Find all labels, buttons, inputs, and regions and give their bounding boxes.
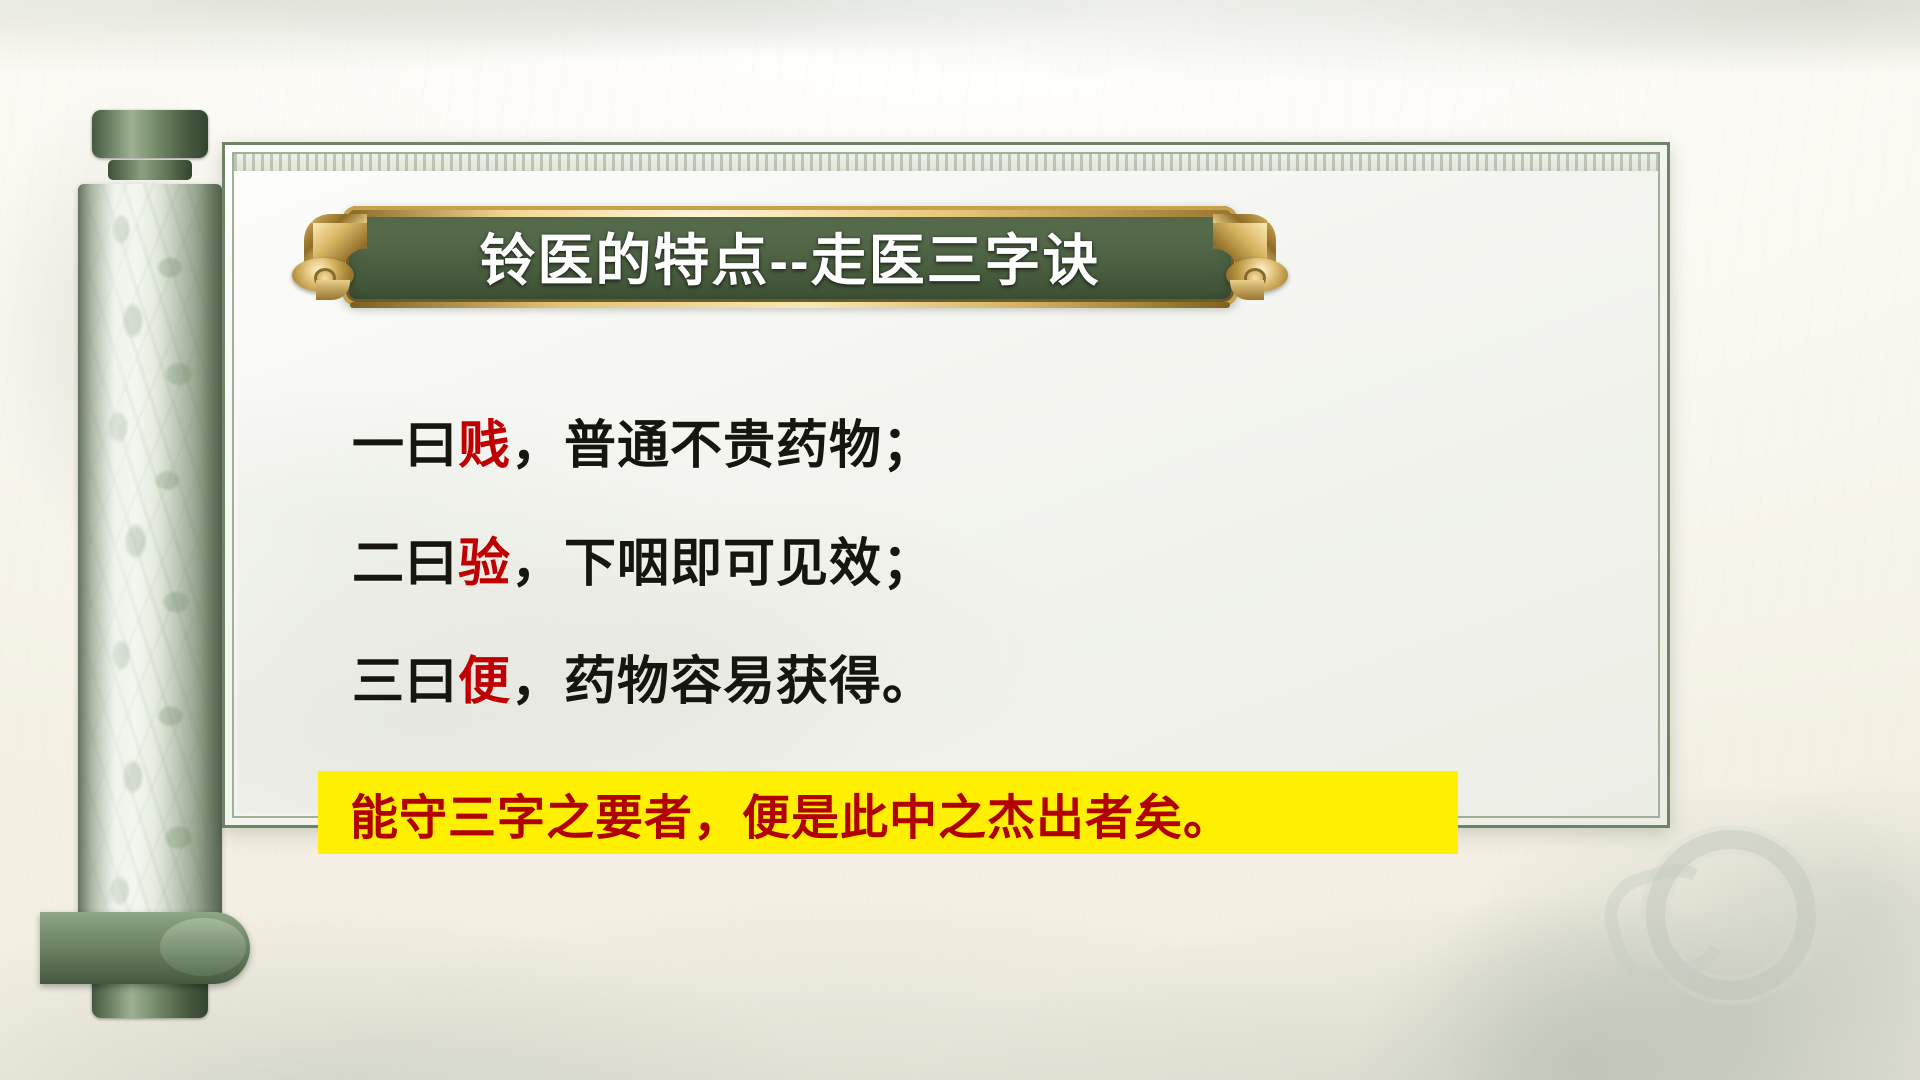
body-line-2: 二曰验，下咽即可见效； (352, 538, 1472, 590)
body-text-block: 一曰贱，普通不贵药物； 二曰验，下咽即可见效； 三曰便，药物容易获得。 (352, 420, 1472, 774)
scroll-rod-knob-top (108, 160, 192, 180)
body-line-1: 一曰贱，普通不贵药物； (352, 420, 1472, 472)
body-line-1-prefix: 一曰 (352, 417, 458, 475)
scroll-rod-cap-top (92, 110, 208, 158)
ornament-tail-icon (316, 280, 350, 300)
title-banner: 铃医的特点--走医三字诀 (290, 200, 1290, 318)
rod-sheen-overlay (78, 184, 222, 944)
body-line-2-suffix: ，下咽即可见效； (511, 535, 935, 593)
banner-ornament-right-icon (1214, 214, 1290, 300)
scroll-rod (78, 110, 222, 1018)
highlight-box: 能守三字之要者，便是此中之杰出者矣。 (318, 771, 1458, 854)
body-line-1-keyword: 贱 (458, 417, 511, 475)
scroll-curl-foot (40, 912, 250, 984)
body-line-3-suffix: ，药物容易获得。 (511, 653, 935, 711)
scroll-rod-body (78, 184, 222, 944)
page-title: 铃医的特点--走医三字诀 (380, 206, 1200, 306)
body-line-3-keyword: 便 (458, 653, 511, 711)
ornament-tail-icon (1230, 280, 1264, 300)
body-line-1-suffix: ，普通不贵药物； (511, 417, 935, 475)
body-line-3: 三曰便，药物容易获得。 (352, 656, 1472, 708)
body-line-3-prefix: 三曰 (352, 653, 458, 711)
banner-ornament-left-icon (290, 214, 366, 300)
body-line-2-prefix: 二曰 (352, 535, 458, 593)
body-line-2-keyword: 验 (458, 535, 511, 593)
highlight-text: 能守三字之要者，便是此中之杰出者矣。 (318, 778, 1232, 848)
jade-ring-watermark-icon (1646, 830, 1816, 1000)
